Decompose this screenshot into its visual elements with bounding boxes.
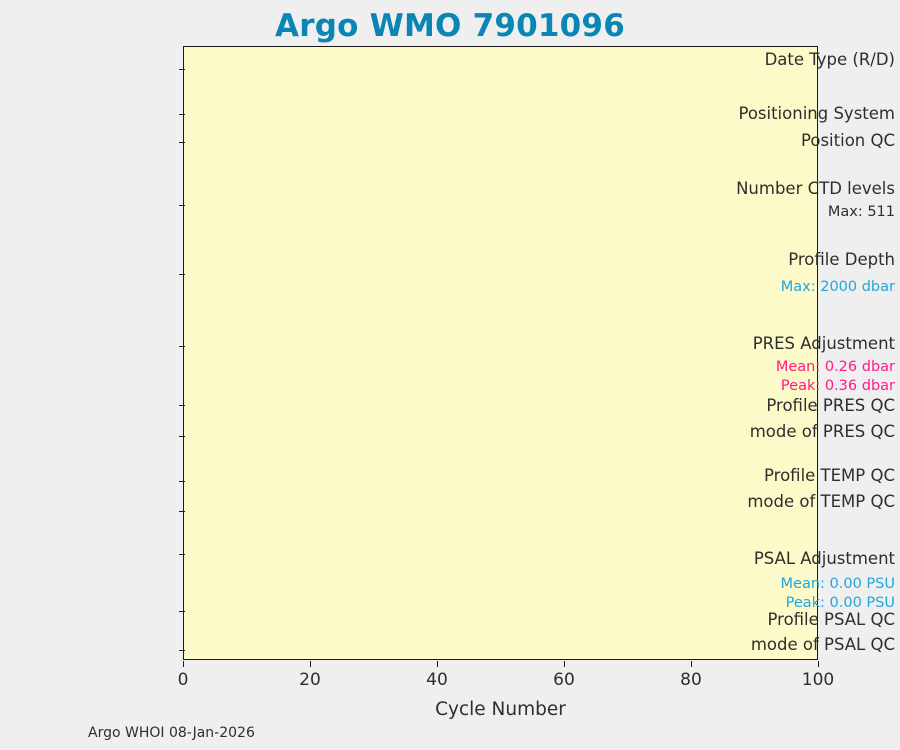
row-sublabel-psal-mean: Mean: 0.00 PSU [717, 577, 900, 592]
x-tick-label-80: 80 [680, 670, 702, 690]
x-tick-label-100: 100 [802, 670, 834, 690]
x-axis: 0 20 40 60 80 100 [183, 661, 819, 701]
y-tick [179, 274, 185, 275]
x-tick-label-20: 20 [299, 670, 321, 690]
x-tick [310, 661, 311, 667]
row-sublabel-ctd-max: Max: 511 [717, 205, 900, 220]
page-title: Argo WMO 7901096 [0, 8, 900, 44]
y-tick [179, 611, 185, 612]
y-tick [179, 554, 185, 555]
x-tick-label-60: 60 [553, 670, 575, 690]
row-label-profile-psal-qc: Profile PSAL QC [717, 612, 900, 629]
x-tick [564, 661, 565, 667]
y-tick [179, 481, 185, 482]
row-sublabel-psal-peak: Peak: 0.00 PSU [717, 596, 900, 611]
row-label-position-qc: Position QC [717, 133, 900, 150]
y-tick [179, 114, 185, 115]
row-label-profile-temp-qc: Profile TEMP QC [717, 468, 900, 485]
row-label-positioning-system: Positioning System [717, 106, 900, 123]
argo-float-summary-figure: Argo WMO 7901096 [0, 0, 900, 750]
row-label-pres-adjustment: PRES Adjustment [717, 336, 900, 353]
y-tick [179, 142, 185, 143]
row-label-profile-depth: Profile Depth [717, 252, 900, 269]
y-tick [179, 436, 185, 437]
row-label-mode-of-psal-qc: mode of PSAL QC [717, 637, 900, 654]
y-tick [179, 405, 185, 406]
row-label-date-type: Date Type (R/D) [717, 52, 900, 69]
x-tick [183, 661, 184, 667]
row-label-number-ctd-levels: Number CTD levels [717, 181, 900, 198]
x-tick [691, 661, 692, 667]
figure-footer: Argo WHOI 08-Jan-2026 [88, 725, 255, 741]
x-tick-label-40: 40 [426, 670, 448, 690]
x-tick-label-0: 0 [178, 670, 189, 690]
y-tick [179, 69, 185, 70]
row-sublabel-pres-peak: Peak: 0.36 dbar [717, 379, 900, 394]
row-label-mode-of-temp-qc: mode of TEMP QC [717, 494, 900, 511]
y-tick [179, 511, 185, 512]
row-sublabel-depth-max: Max: 2000 dbar [717, 280, 900, 295]
x-tick [818, 661, 819, 667]
row-label-profile-pres-qc: Profile PRES QC [717, 398, 900, 415]
x-axis-label: Cycle Number [183, 699, 818, 720]
row-label-mode-of-pres-qc: mode of PRES QC [717, 424, 900, 441]
x-tick [437, 661, 438, 667]
y-tick [179, 346, 185, 347]
y-tick [179, 650, 185, 651]
row-sublabel-pres-mean: Mean: 0.26 dbar [717, 360, 900, 375]
y-tick [179, 205, 185, 206]
row-label-psal-adjustment: PSAL Adjustment [717, 551, 900, 568]
